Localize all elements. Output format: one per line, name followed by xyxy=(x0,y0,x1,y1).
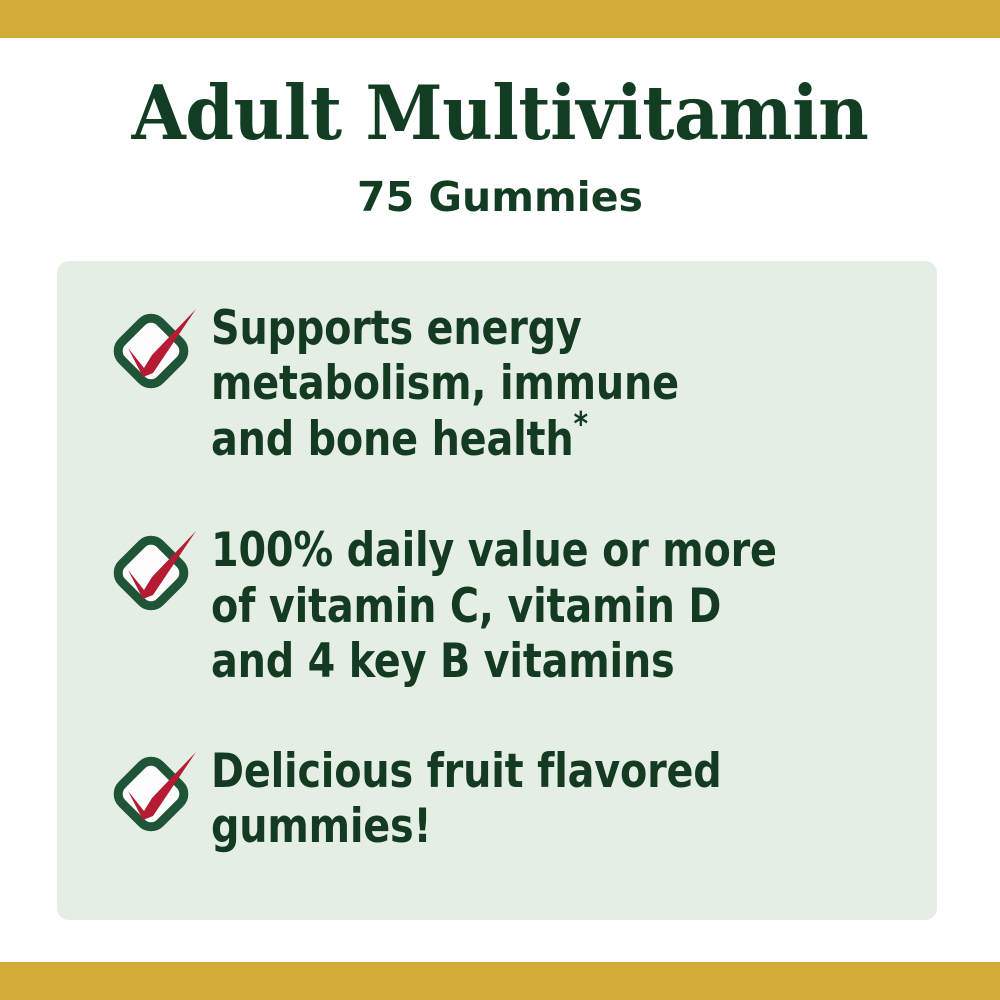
bottom-gold-accent-bar xyxy=(0,962,1000,1000)
product-info-graphic: Adult Multivitamin 75 Gummies Supports e… xyxy=(0,0,1000,1000)
product-header: Adult Multivitamin 75 Gummies xyxy=(0,38,1000,218)
benefit-item: Delicious fruit flavored gummies! xyxy=(57,742,937,855)
check-mark-diamond-icon xyxy=(107,750,203,836)
top-gold-accent-bar xyxy=(0,0,1000,38)
benefit-text-body: Delicious fruit flavored gummies! xyxy=(211,744,722,854)
benefit-item: Supports energy metabolism, immune and b… xyxy=(57,299,937,467)
footnote-asterisk: * xyxy=(573,404,587,443)
benefit-text-body: 100% daily value or more of vitamin C, v… xyxy=(211,523,777,689)
product-subtitle-count: 75 Gummies xyxy=(0,151,1000,218)
benefit-text: Delicious fruit flavored gummies! xyxy=(211,742,722,855)
benefit-text-body: Supports energy metabolism, immune and b… xyxy=(211,301,679,467)
benefits-panel: Supports energy metabolism, immune and b… xyxy=(57,261,937,920)
benefit-text: Supports energy metabolism, immune and b… xyxy=(211,299,679,467)
benefit-item: 100% daily value or more of vitamin C, v… xyxy=(57,521,937,689)
benefit-text: 100% daily value or more of vitamin C, v… xyxy=(211,521,777,689)
check-mark-diamond-icon xyxy=(107,529,203,615)
check-mark-diamond-icon xyxy=(107,307,203,393)
page-title: Adult Multivitamin xyxy=(35,38,965,151)
